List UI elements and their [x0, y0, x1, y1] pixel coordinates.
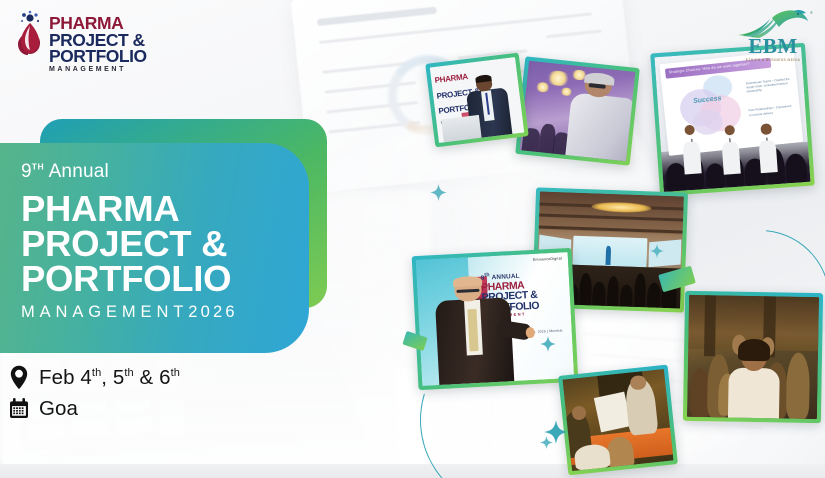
brand-logo[interactable]: PHARMA PROJECT & PORTFOLIO MANAGEMENT — [14, 10, 147, 75]
partner-logo-ebm[interactable]: ® EBM ETHICS & BUSINESS MEDIA — [731, 8, 815, 62]
event-meta: Feb 4th, 5th & 6th — [8, 362, 180, 424]
brand-logo-line3: PORTFOLIO — [49, 48, 147, 65]
photo-panel-discussion[interactable]: Strategic Choices: How do we work togeth… — [650, 43, 815, 196]
sparkle-icon — [650, 244, 664, 263]
sparkle-icon — [540, 336, 556, 357]
trademark-symbol: ® — [810, 10, 813, 15]
event-location-text: Goa — [39, 397, 78, 421]
calendar-icon — [8, 398, 30, 419]
photo-speaker-podium[interactable]: PHARMA PROJECT & PORTFOLIO MANAGEMENT — [425, 53, 529, 148]
map-pin-icon — [8, 365, 30, 390]
photo-networking-purple[interactable] — [515, 56, 640, 165]
panel-slide-note-1: Downstream Teams – Clarified the supply … — [745, 77, 792, 95]
partner-logo-tagline: ETHICS & BUSINESS MEDIA — [731, 58, 815, 62]
sparkle-icon — [540, 436, 553, 454]
event-location-row: Goa — [8, 393, 180, 424]
photo5-media-logo: EminenceDigital — [533, 256, 562, 262]
flask-pill-icon — [14, 10, 44, 58]
event-date-text: Feb 4th, 5th & 6th — [39, 366, 180, 390]
event-date-row: Feb 4th, 5th & 6th — [8, 362, 180, 393]
panel-slide-note-2: Peer Relationships – Empowered to execut… — [748, 104, 795, 117]
partner-logo-name: EBM — [731, 36, 815, 57]
poster-canvas: PHARMA PROJECT & PORTFOLIO MANAGEMENT ® — [0, 0, 825, 478]
sparkle-icon — [430, 184, 447, 206]
brand-logo-line4: MANAGEMENT — [49, 65, 147, 76]
